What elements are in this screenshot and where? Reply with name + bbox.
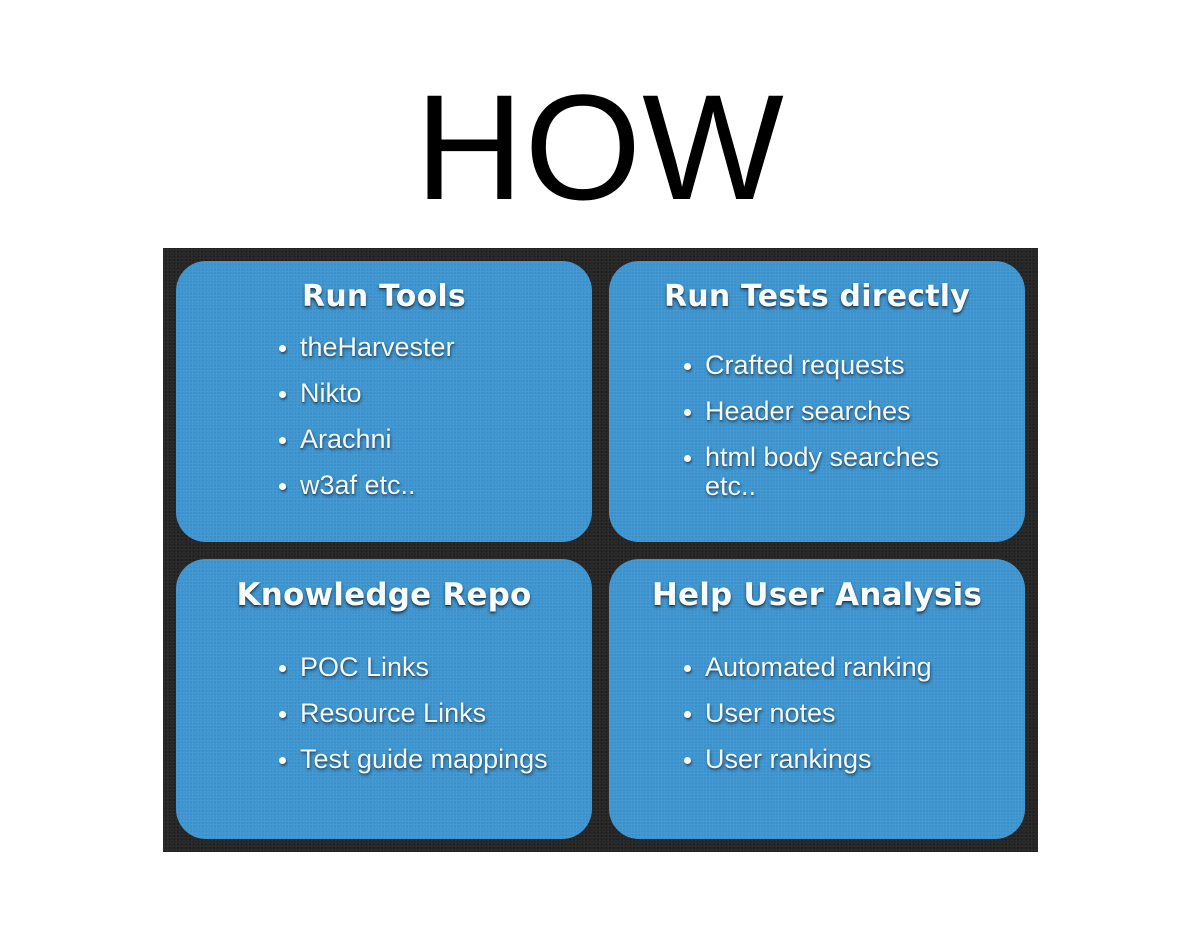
list-item: Nikto: [266, 379, 578, 408]
panel-run-tests-directly-list: Crafted requests Header searches html bo…: [671, 351, 1011, 501]
panel-knowledge-repo: Knowledge Repo POC Links Resource Links …: [176, 559, 592, 840]
list-item: Header searches: [671, 397, 1011, 426]
list-item: html body searches etc..: [671, 443, 1011, 501]
panel-knowledge-repo-list: POC Links Resource Links Test guide mapp…: [266, 653, 578, 774]
panel-run-tools: Run Tools theHarvester Nikto Arachni w3a…: [176, 261, 592, 542]
list-item: Automated ranking: [671, 653, 1011, 682]
list-item: POC Links: [266, 653, 578, 682]
panel-run-tests-directly: Run Tests directly Crafted requests Head…: [609, 261, 1025, 542]
list-item: theHarvester: [266, 333, 578, 362]
list-item: Test guide mappings: [266, 745, 578, 774]
panel-knowledge-repo-title: Knowledge Repo: [190, 577, 578, 613]
list-item: Arachni: [266, 425, 578, 454]
panel-help-user-analysis-list: Automated ranking User notes User rankin…: [671, 653, 1011, 774]
list-item: w3af etc..: [266, 471, 578, 500]
list-item: User notes: [671, 699, 1011, 728]
list-item: User rankings: [671, 745, 1011, 774]
quadrant-board: Run Tools theHarvester Nikto Arachni w3a…: [163, 248, 1038, 852]
panel-help-user-analysis: Help User Analysis Automated ranking Use…: [609, 559, 1025, 840]
list-item: Crafted requests: [671, 351, 1011, 380]
panel-run-tests-directly-title: Run Tests directly: [623, 279, 1011, 315]
page-title: HOW: [0, 72, 1200, 222]
panel-run-tools-title: Run Tools: [190, 279, 578, 315]
list-item: Resource Links: [266, 699, 578, 728]
panel-run-tools-list: theHarvester Nikto Arachni w3af etc..: [266, 333, 578, 500]
panel-help-user-analysis-title: Help User Analysis: [623, 577, 1011, 613]
